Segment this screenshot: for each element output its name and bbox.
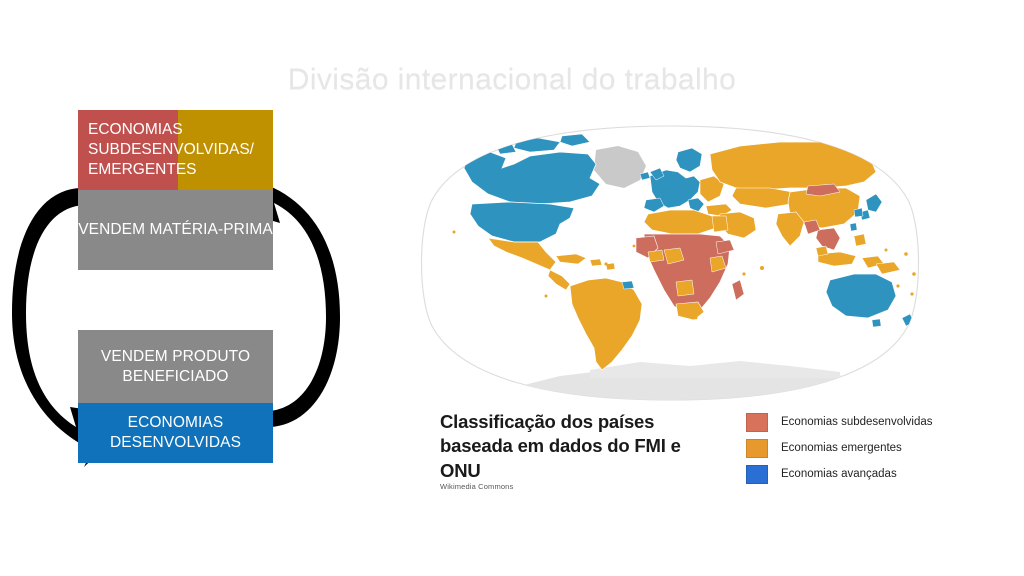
legend-swatch-avancadas [746,465,768,484]
world-map-svg [410,118,930,408]
region-russia [710,142,876,190]
cycle-diagram: ECONOMIAS SUBDESENVOLVIDAS/ EMERGENTES V… [0,95,360,495]
region-guyana [622,281,634,289]
region-north-africa [644,210,716,234]
legend-item-avancadas: Economias avançadas [746,461,996,487]
flow-box-group-bottom: VENDEM PRODUTO BENEFICIADO ECONOMIAS DES… [78,330,273,480]
legend-swatch-subdesenvolvidas [746,413,768,432]
region-ghana-ivorycoast [648,250,664,262]
legend-item-subdesenvolvidas: Economias subdesenvolvidas [746,409,996,435]
region-malaysia [816,246,828,256]
legend-label-emergentes: Economias emergentes [781,442,902,454]
map-source-attribution: Wikimedia Commons [440,482,513,491]
box-vendem-produto-beneficiado: VENDEM PRODUTO BENEFICIADO [78,330,273,403]
region-tasmania [872,319,881,327]
map-caption: Classificação dos países baseada em dado… [440,410,690,483]
legend-label-avancadas: Economias avançadas [781,468,897,480]
map-legend: Economias subdesenvolvidas Economias eme… [746,409,996,487]
region-angola [676,280,694,296]
legend-label-subdesenvolvidas: Economias subdesenvolvidas [781,416,933,428]
flow-box-group-top: ECONOMIAS SUBDESENVOLVIDAS/ EMERGENTES V… [78,110,273,290]
page-title: Divisão internacional do trabalho [0,63,1024,97]
box-economias-desenvolvidas: ECONOMIAS DESENVOLVIDAS [78,403,273,463]
region-philippines [854,234,866,246]
box-economias-subdesenvolvidas-emergentes: ECONOMIAS SUBDESENVOLVIDAS/ EMERGENTES [78,110,273,190]
world-map-figure [410,118,930,408]
legend-item-emergentes: Economias emergentes [746,435,996,461]
box-vendem-materia-prima: VENDEM MATÉRIA-PRIMA [78,190,273,270]
region-taiwan [850,223,857,231]
legend-swatch-emergentes [746,439,768,458]
region-egypt [712,216,728,232]
